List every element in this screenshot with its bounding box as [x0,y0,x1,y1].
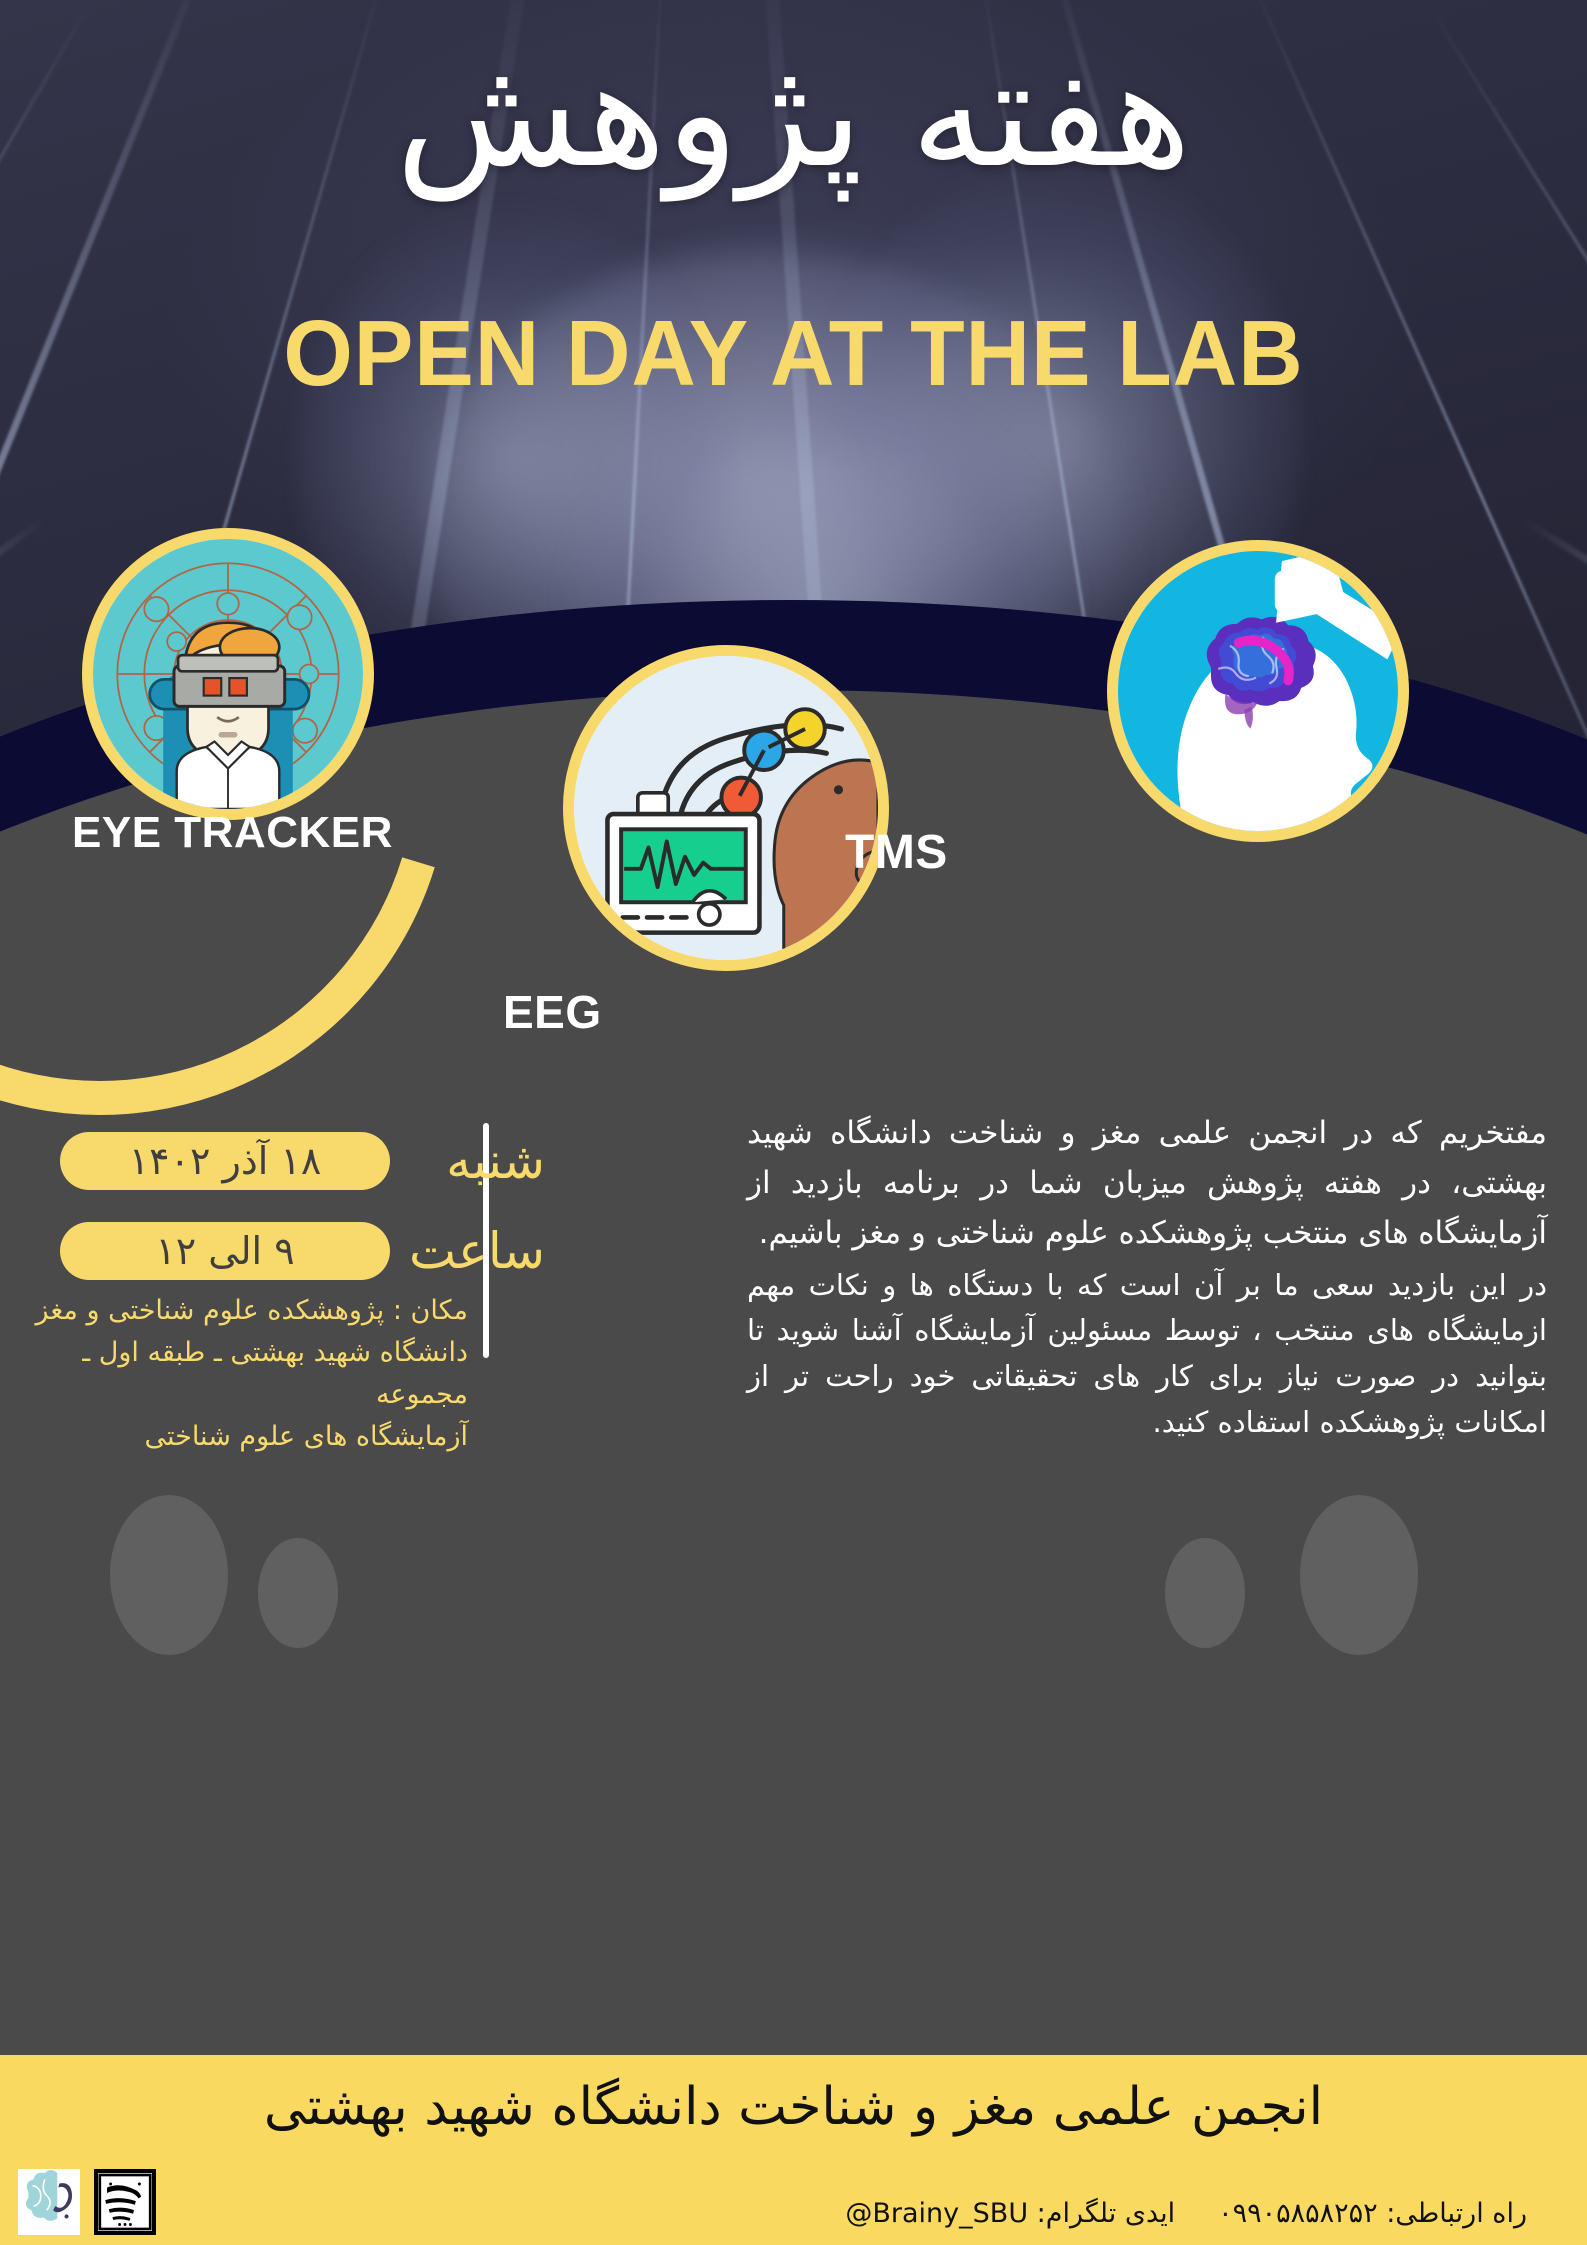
venue-block: مکان : پژوهشکده علوم شناختی و مغز دانشگا… [28,1290,468,1457]
description-block: مفتخریم که در انجمن علمی مغز و شناخت دان… [747,1108,1547,1450]
venue-line-2: دانشگاه شهید بهشتی ـ طبقه اول ـ مجموعه [28,1332,468,1416]
description-paragraph-2: در این بازدید سعی ما بر آن است که با دست… [747,1263,1547,1446]
poster-root: هفته پژوهش OPEN DAY AT THE LAB [0,0,1587,2245]
decorative-ellipse [258,1538,338,1648]
schedule-time-row: ساعت ۹ الی ۱۲ [60,1222,545,1280]
decorative-ellipse [1300,1495,1418,1655]
schedule-day-row: شنبه ۱۸ آذر ۱۴۰۲ [60,1132,545,1190]
contact-label: راه ارتباطی: [1386,2198,1527,2229]
decorative-ellipse [1165,1538,1245,1648]
brain-association-logo [18,2169,80,2235]
label-eeg: EEG [503,985,602,1039]
footer-logos [18,2169,156,2235]
time-label: ساعت [410,1222,545,1280]
telegram-label: ایدی تلگرام: [1037,2198,1175,2229]
page-title-persian: هفته پژوهش [0,28,1587,201]
description-paragraph-1: مفتخریم که در انجمن علمی مغز و شناخت دان… [747,1108,1547,1259]
circle-eye-tracker[interactable] [82,528,374,820]
eeg-machine-icon [574,656,878,960]
contact-phone: ۰۹۹۰۵۸۵۸۲۵۲ [1218,2198,1378,2229]
footer-banner: انجمن علمی مغز و شناخت دانشگاه شهید بهشت… [0,2055,1587,2245]
eye-tracker-icon [93,539,363,809]
circle-tms[interactable] [1107,540,1409,842]
day-label: شنبه [410,1132,545,1190]
tms-coil-icon [1118,551,1398,831]
label-tms: TMS [845,825,948,880]
decorative-ellipse [110,1495,228,1655]
venue-line-3: آزمایشگاه های علوم شناختی [28,1416,468,1458]
time-value-pill: ۹ الی ۱۲ [60,1222,390,1280]
page-title-english: OPEN DAY AT THE LAB [32,300,1556,407]
day-value-pill: ۱۸ آذر ۱۴۰۲ [60,1132,390,1190]
footer-organization-title: انجمن علمی مغز و شناخت دانشگاه شهید بهشت… [0,2077,1587,2137]
sbu-university-logo [94,2169,156,2235]
telegram-handle[interactable]: @Brainy_SBU [845,2198,1028,2229]
contact-line: راه ارتباطی: ۰۹۹۰۵۸۵۸۲۵۲ ایدی تلگرام: @B… [845,2198,1527,2229]
circle-eeg[interactable] [563,645,889,971]
venue-line-1: مکان : پژوهشکده علوم شناختی و مغز [28,1290,468,1332]
label-eye-tracker: EYE TRACKER [72,808,393,858]
